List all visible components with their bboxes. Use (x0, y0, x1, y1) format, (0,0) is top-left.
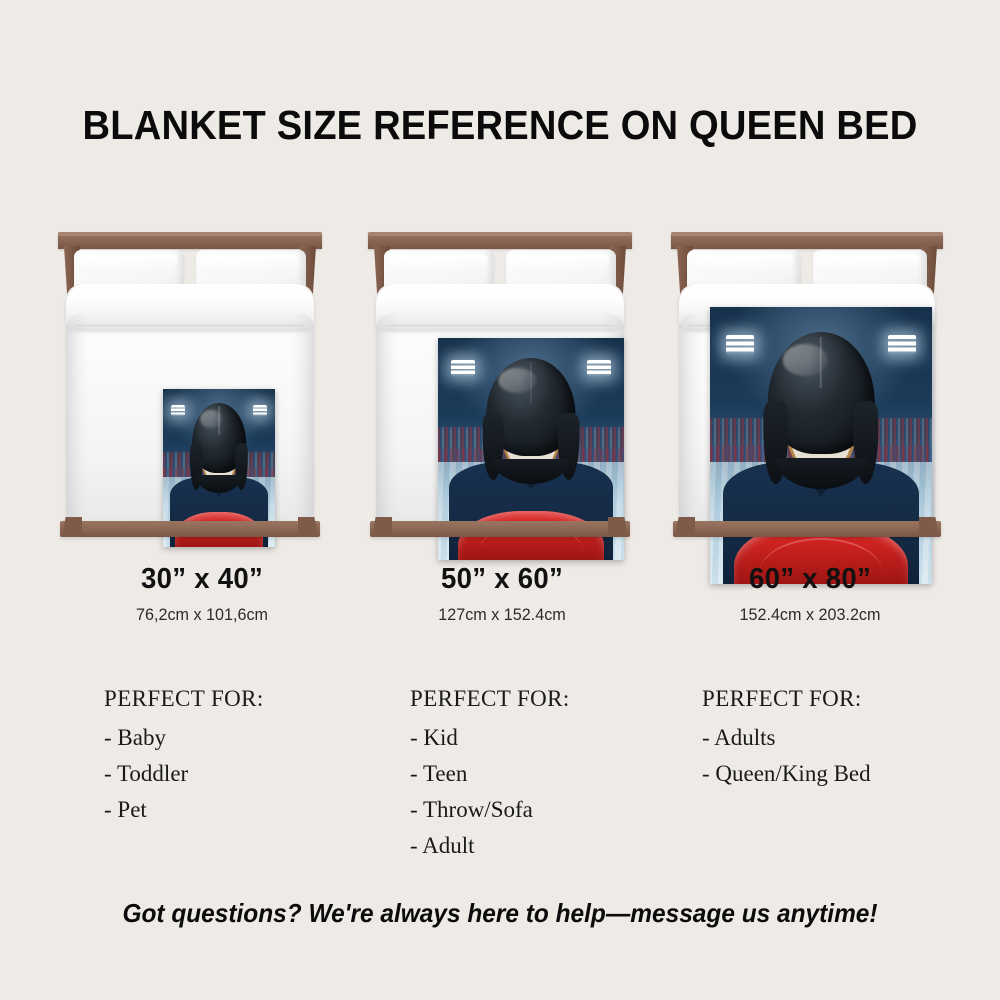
list-item: - Baby (104, 720, 404, 756)
headboard-rail (671, 232, 943, 249)
list-item: - Throw/Sofa (410, 792, 710, 828)
perfect-for-list-60x80: PERFECT FOR: - Adults - Queen/King Bed (702, 686, 1000, 792)
husky-racer (710, 307, 932, 584)
footer-note: Got questions? We're always here to help… (30, 898, 970, 929)
size-caption-row: 30” x 40” 76,2cm x 101,6cm 50” x 60” 127… (0, 563, 1000, 643)
helmet-chin-bar (483, 413, 580, 480)
helmet-seam (820, 337, 822, 388)
bed-foot-right (298, 517, 318, 537)
bed-mockup-size-60x80 (655, 232, 960, 552)
list-item: - Kid (410, 720, 710, 756)
size-caption-50x60: 50” x 60” 127cm x 152.4cm (352, 563, 652, 625)
white-duvet (66, 284, 314, 523)
size-inches-label: 50” x 60” (360, 563, 645, 596)
duvet-top-fold (66, 284, 314, 330)
list-item: - Queen/King Bed (702, 756, 1000, 792)
list-item: - Pet (104, 792, 404, 828)
bed-mockup-size-50x60 (350, 232, 650, 552)
footboard-rail (370, 521, 630, 537)
size-centimeters-label: 127cm x 152.4cm (360, 605, 645, 625)
bed-foot-left (62, 517, 82, 537)
perfect-for-heading: PERFECT FOR: (702, 686, 1000, 712)
queen-bed (671, 232, 943, 537)
headboard-rail (368, 232, 632, 249)
list-item: - Adult (410, 828, 710, 864)
bed-foot-right (919, 517, 939, 537)
helmet-seam (530, 362, 532, 403)
white-duvet (679, 284, 935, 523)
size-centimeters-label: 76,2cm x 101,6cm (60, 605, 345, 625)
size-caption-30x40: 30” x 40” 76,2cm x 101,6cm (52, 563, 352, 625)
list-item: - Teen (410, 756, 710, 792)
queen-bed (58, 232, 322, 537)
helmet-seam (218, 406, 220, 435)
duvet-drape-left (66, 314, 88, 517)
bed-foot-left (372, 517, 392, 537)
perfect-for-list-30x40: PERFECT FOR: - Baby - Toddler - Pet (104, 686, 404, 828)
bed-mockup-size-30x40 (40, 232, 340, 552)
size-inches-label: 60” x 80” (668, 563, 953, 596)
blanket-artwork-60x80 (710, 307, 932, 584)
headboard-rail (58, 232, 322, 249)
perfect-for-heading: PERFECT FOR: (104, 686, 404, 712)
page-title: BLANKET SIZE REFERENCE ON QUEEN BED (35, 102, 965, 149)
bed-mockup-row (0, 232, 1000, 552)
size-inches-label: 30” x 40” (60, 563, 345, 596)
list-item: - Adults (702, 720, 1000, 756)
helmet-chin-bar (763, 401, 878, 484)
white-duvet (376, 284, 624, 523)
duvet-drape-right (292, 314, 314, 517)
footboard-rail (60, 521, 320, 537)
list-item: - Toddler (104, 756, 404, 792)
duvet-drape-left (679, 314, 701, 517)
size-centimeters-label: 152.4cm x 203.2cm (668, 605, 953, 625)
helmet-chin-bar (190, 443, 248, 490)
perfect-for-list-50x60: PERFECT FOR: - Kid - Teen - Throw/Sofa -… (410, 686, 710, 864)
bed-foot-left (675, 517, 695, 537)
queen-bed (368, 232, 632, 537)
footboard-rail (673, 521, 941, 537)
duvet-drape-left (376, 314, 398, 517)
size-caption-60x80: 60” x 80” 152.4cm x 203.2cm (660, 563, 960, 625)
perfect-for-heading: PERFECT FOR: (410, 686, 710, 712)
perfect-for-row: PERFECT FOR: - Baby - Toddler - Pet PERF… (0, 686, 1000, 871)
duvet-top-fold (376, 284, 624, 330)
bed-foot-right (608, 517, 628, 537)
